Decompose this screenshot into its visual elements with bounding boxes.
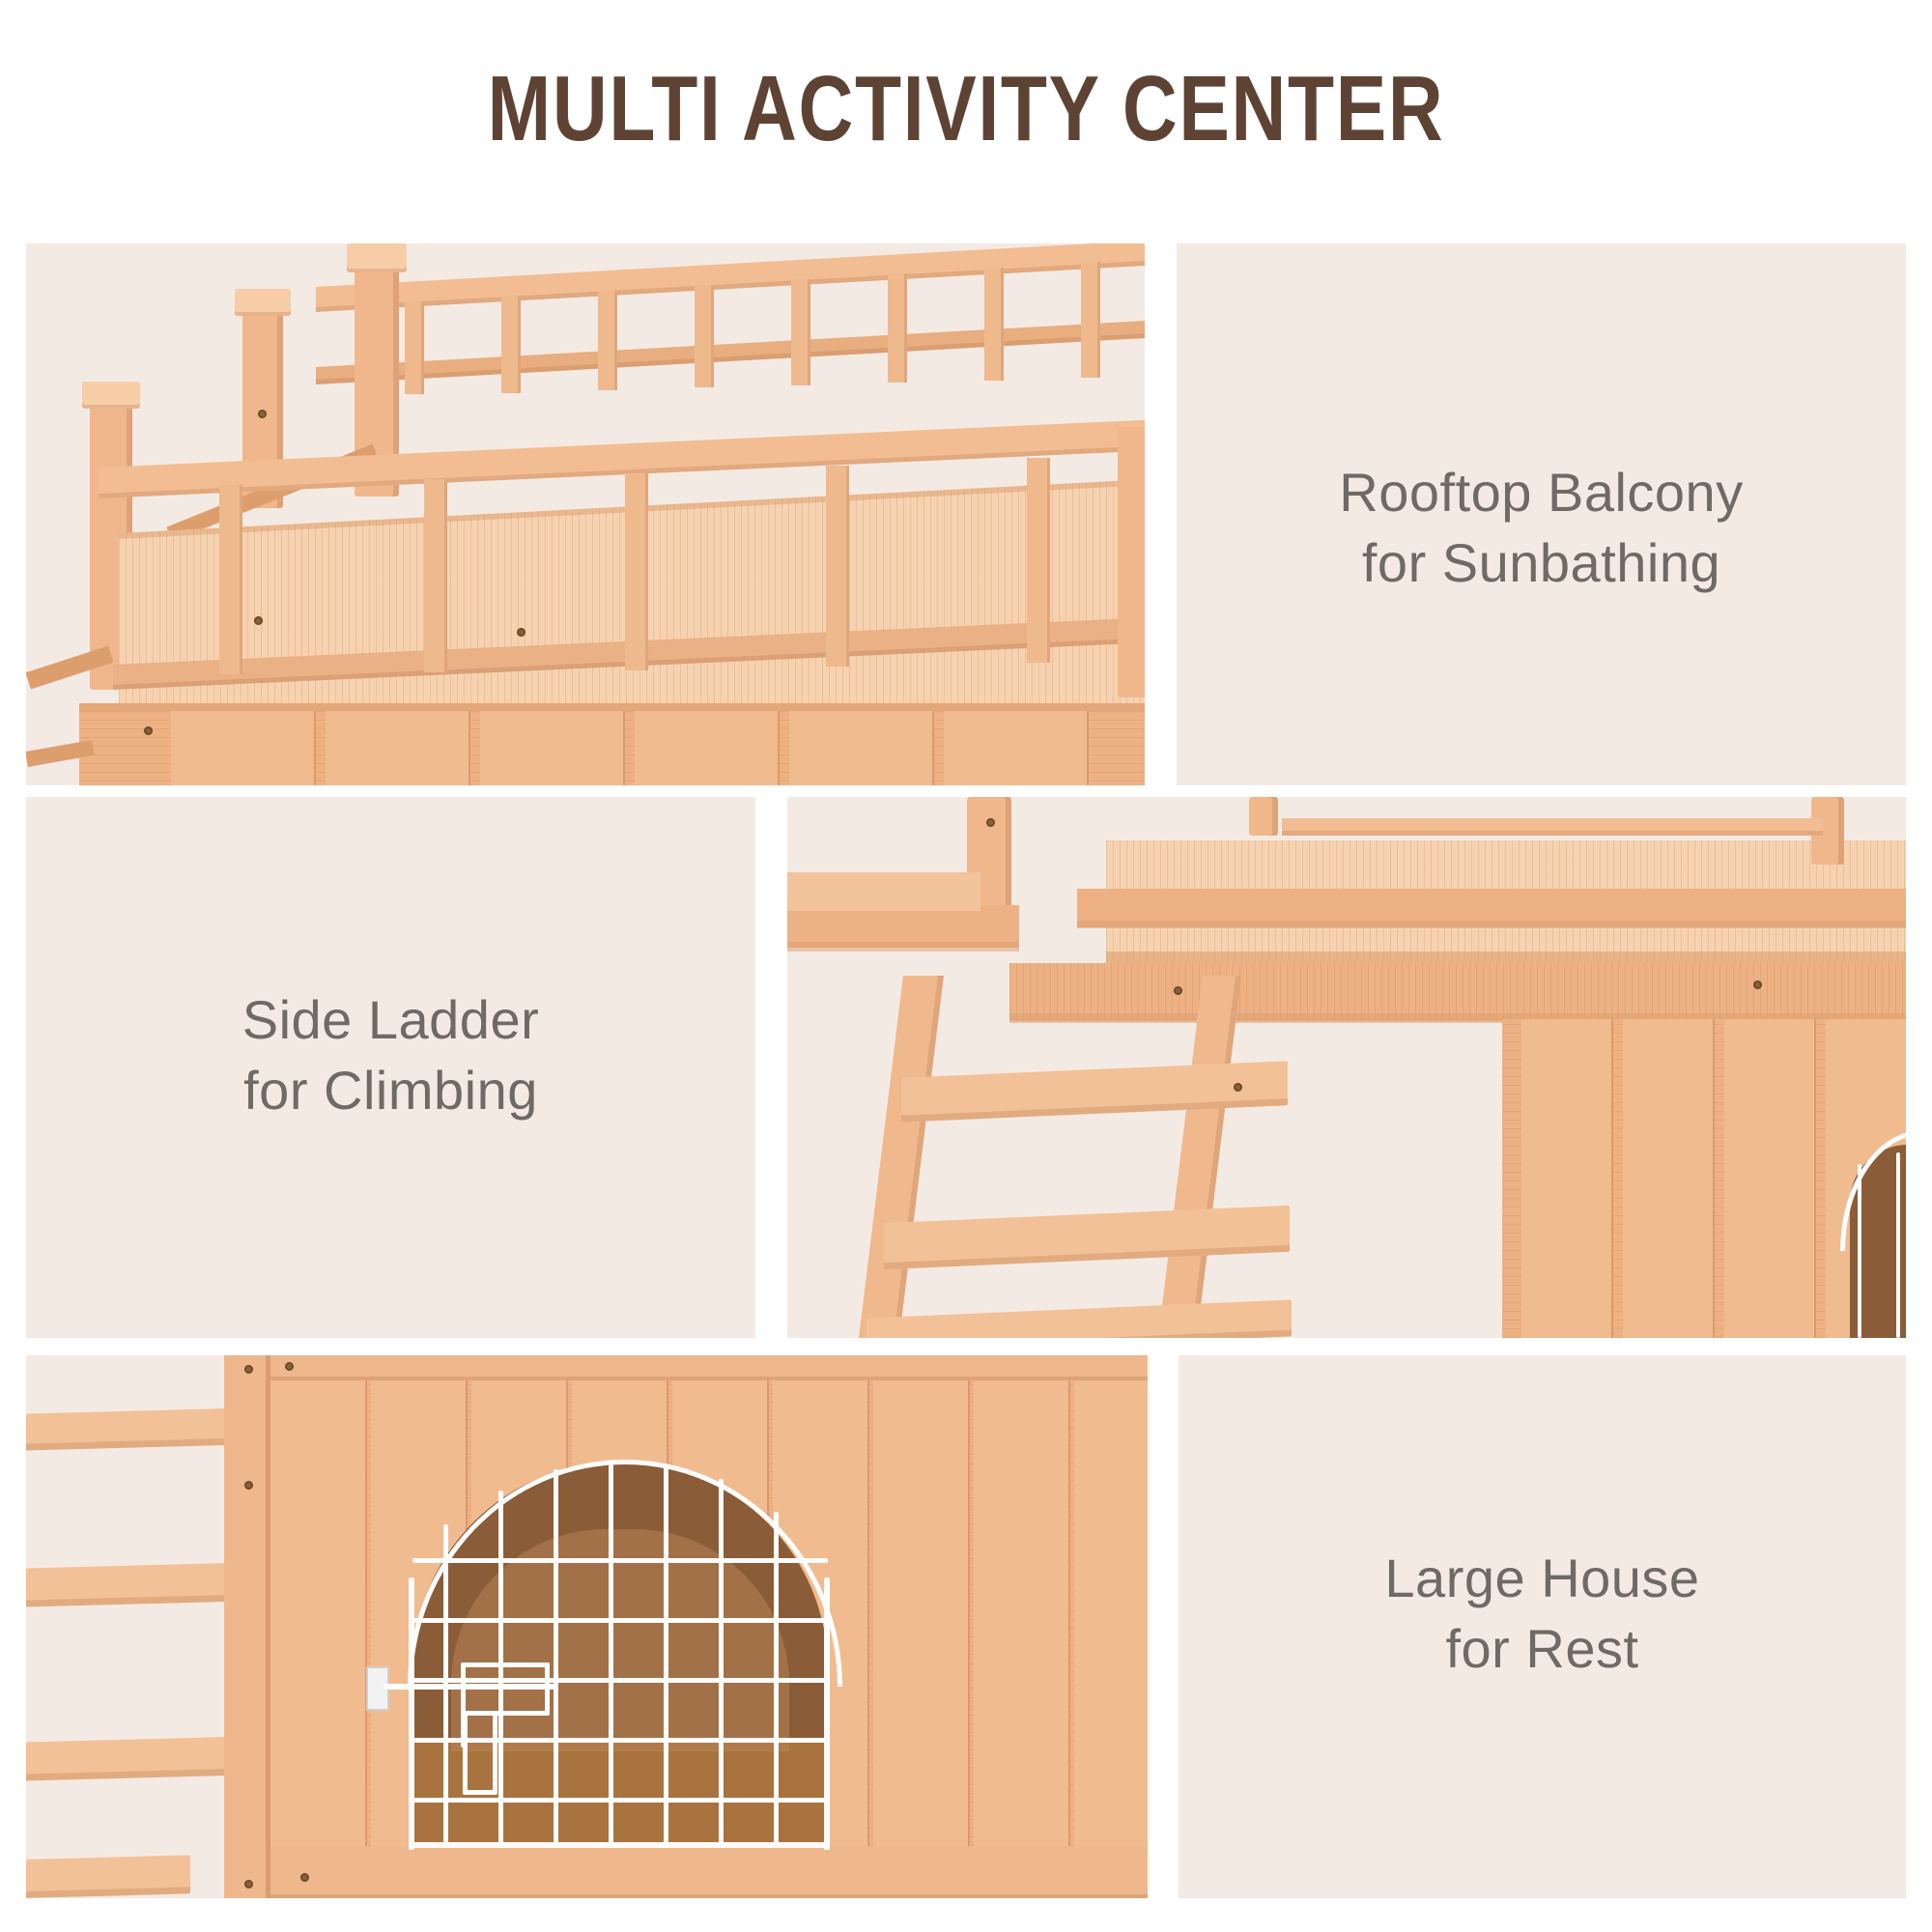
feature-image-large-house: [26, 1355, 1148, 1898]
page-title: MULTI ACTIVITY CENTER: [174, 56, 1758, 162]
caption-panel-side-ladder: Side Ladder for Climbing: [26, 797, 755, 1338]
balcony-photo-art: [26, 243, 1145, 785]
caption-line-2: for Rest: [1179, 1614, 1906, 1685]
caption-panel-large-house: Large House for Rest: [1179, 1355, 1906, 1898]
caption-line-1: Large House: [1384, 1548, 1699, 1608]
feature-image-rooftop-balcony: [26, 243, 1145, 785]
caption-line-2: for Sunbathing: [1177, 528, 1906, 599]
feature-image-side-ladder: [787, 797, 1906, 1338]
caption-panel-rooftop-balcony: Rooftop Balcony for Sunbathing: [1177, 243, 1906, 785]
house-photo-art: [26, 1355, 1148, 1898]
ladder-photo-art: [787, 797, 1906, 1338]
caption-line-1: Rooftop Balcony: [1339, 462, 1743, 523]
caption-line-1: Side Ladder: [242, 989, 540, 1050]
caption-line-2: for Climbing: [26, 1056, 755, 1126]
